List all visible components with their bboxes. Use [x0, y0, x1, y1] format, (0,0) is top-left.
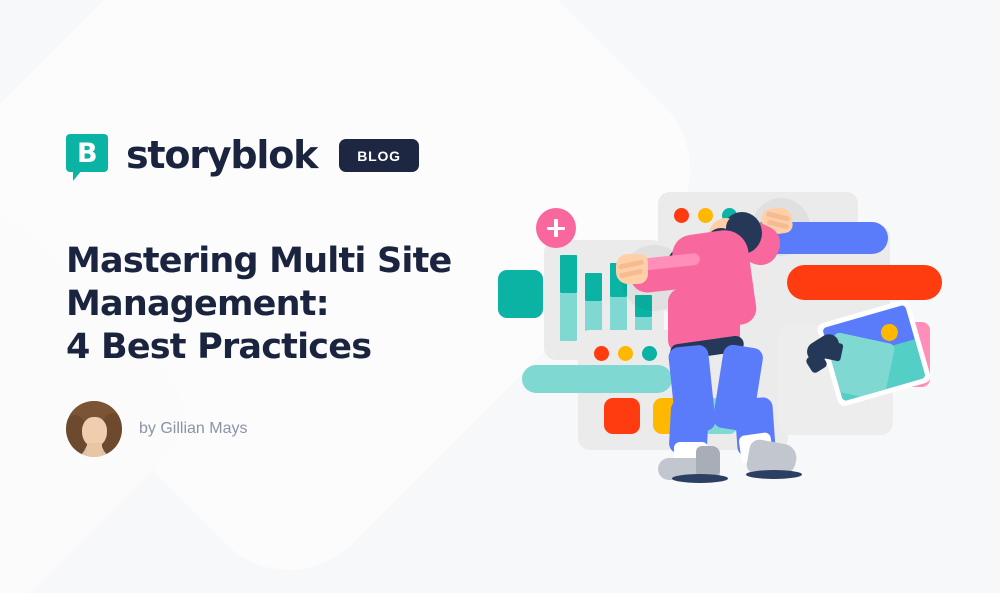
logo-letter: B	[66, 134, 108, 172]
blog-badge[interactable]: BLOG	[339, 139, 419, 172]
person-shoe-front-heel	[696, 446, 720, 476]
chart-bar-1-top	[560, 255, 577, 293]
window2-dot-amber	[618, 346, 633, 361]
window-dot-amber	[698, 208, 713, 223]
blog-hero-card: B storyblok BLOG Mastering Multi Site Ma…	[0, 0, 1000, 593]
byline: by Gillian Mays	[66, 401, 247, 457]
teal-pill-bar	[522, 365, 672, 393]
avatar	[66, 401, 122, 457]
window2-dot-teal	[642, 346, 657, 361]
shoe-shadow-back	[746, 470, 802, 479]
window-dot-red	[674, 208, 689, 223]
hero-illustration	[490, 170, 970, 490]
chart-bar-1-bottom	[560, 293, 577, 341]
chart-bar-2-top	[585, 273, 602, 301]
window2-dot-red	[594, 346, 609, 361]
brand-row: B storyblok BLOG	[66, 133, 419, 177]
red-square	[604, 398, 640, 434]
shoe-shadow-front	[672, 474, 728, 483]
teal-square	[498, 270, 543, 318]
add-button-icon[interactable]	[536, 208, 576, 248]
cursor-arrow-icon	[806, 338, 852, 384]
avatar-neck	[87, 443, 102, 457]
byline-label: by Gillian Mays	[139, 420, 247, 438]
page-title: Mastering Multi Site Management: 4 Best …	[66, 240, 486, 369]
storyblok-logo-icon[interactable]: B	[66, 134, 108, 176]
red-pill-bar	[787, 265, 942, 300]
storyblok-wordmark[interactable]: storyblok	[126, 133, 317, 177]
